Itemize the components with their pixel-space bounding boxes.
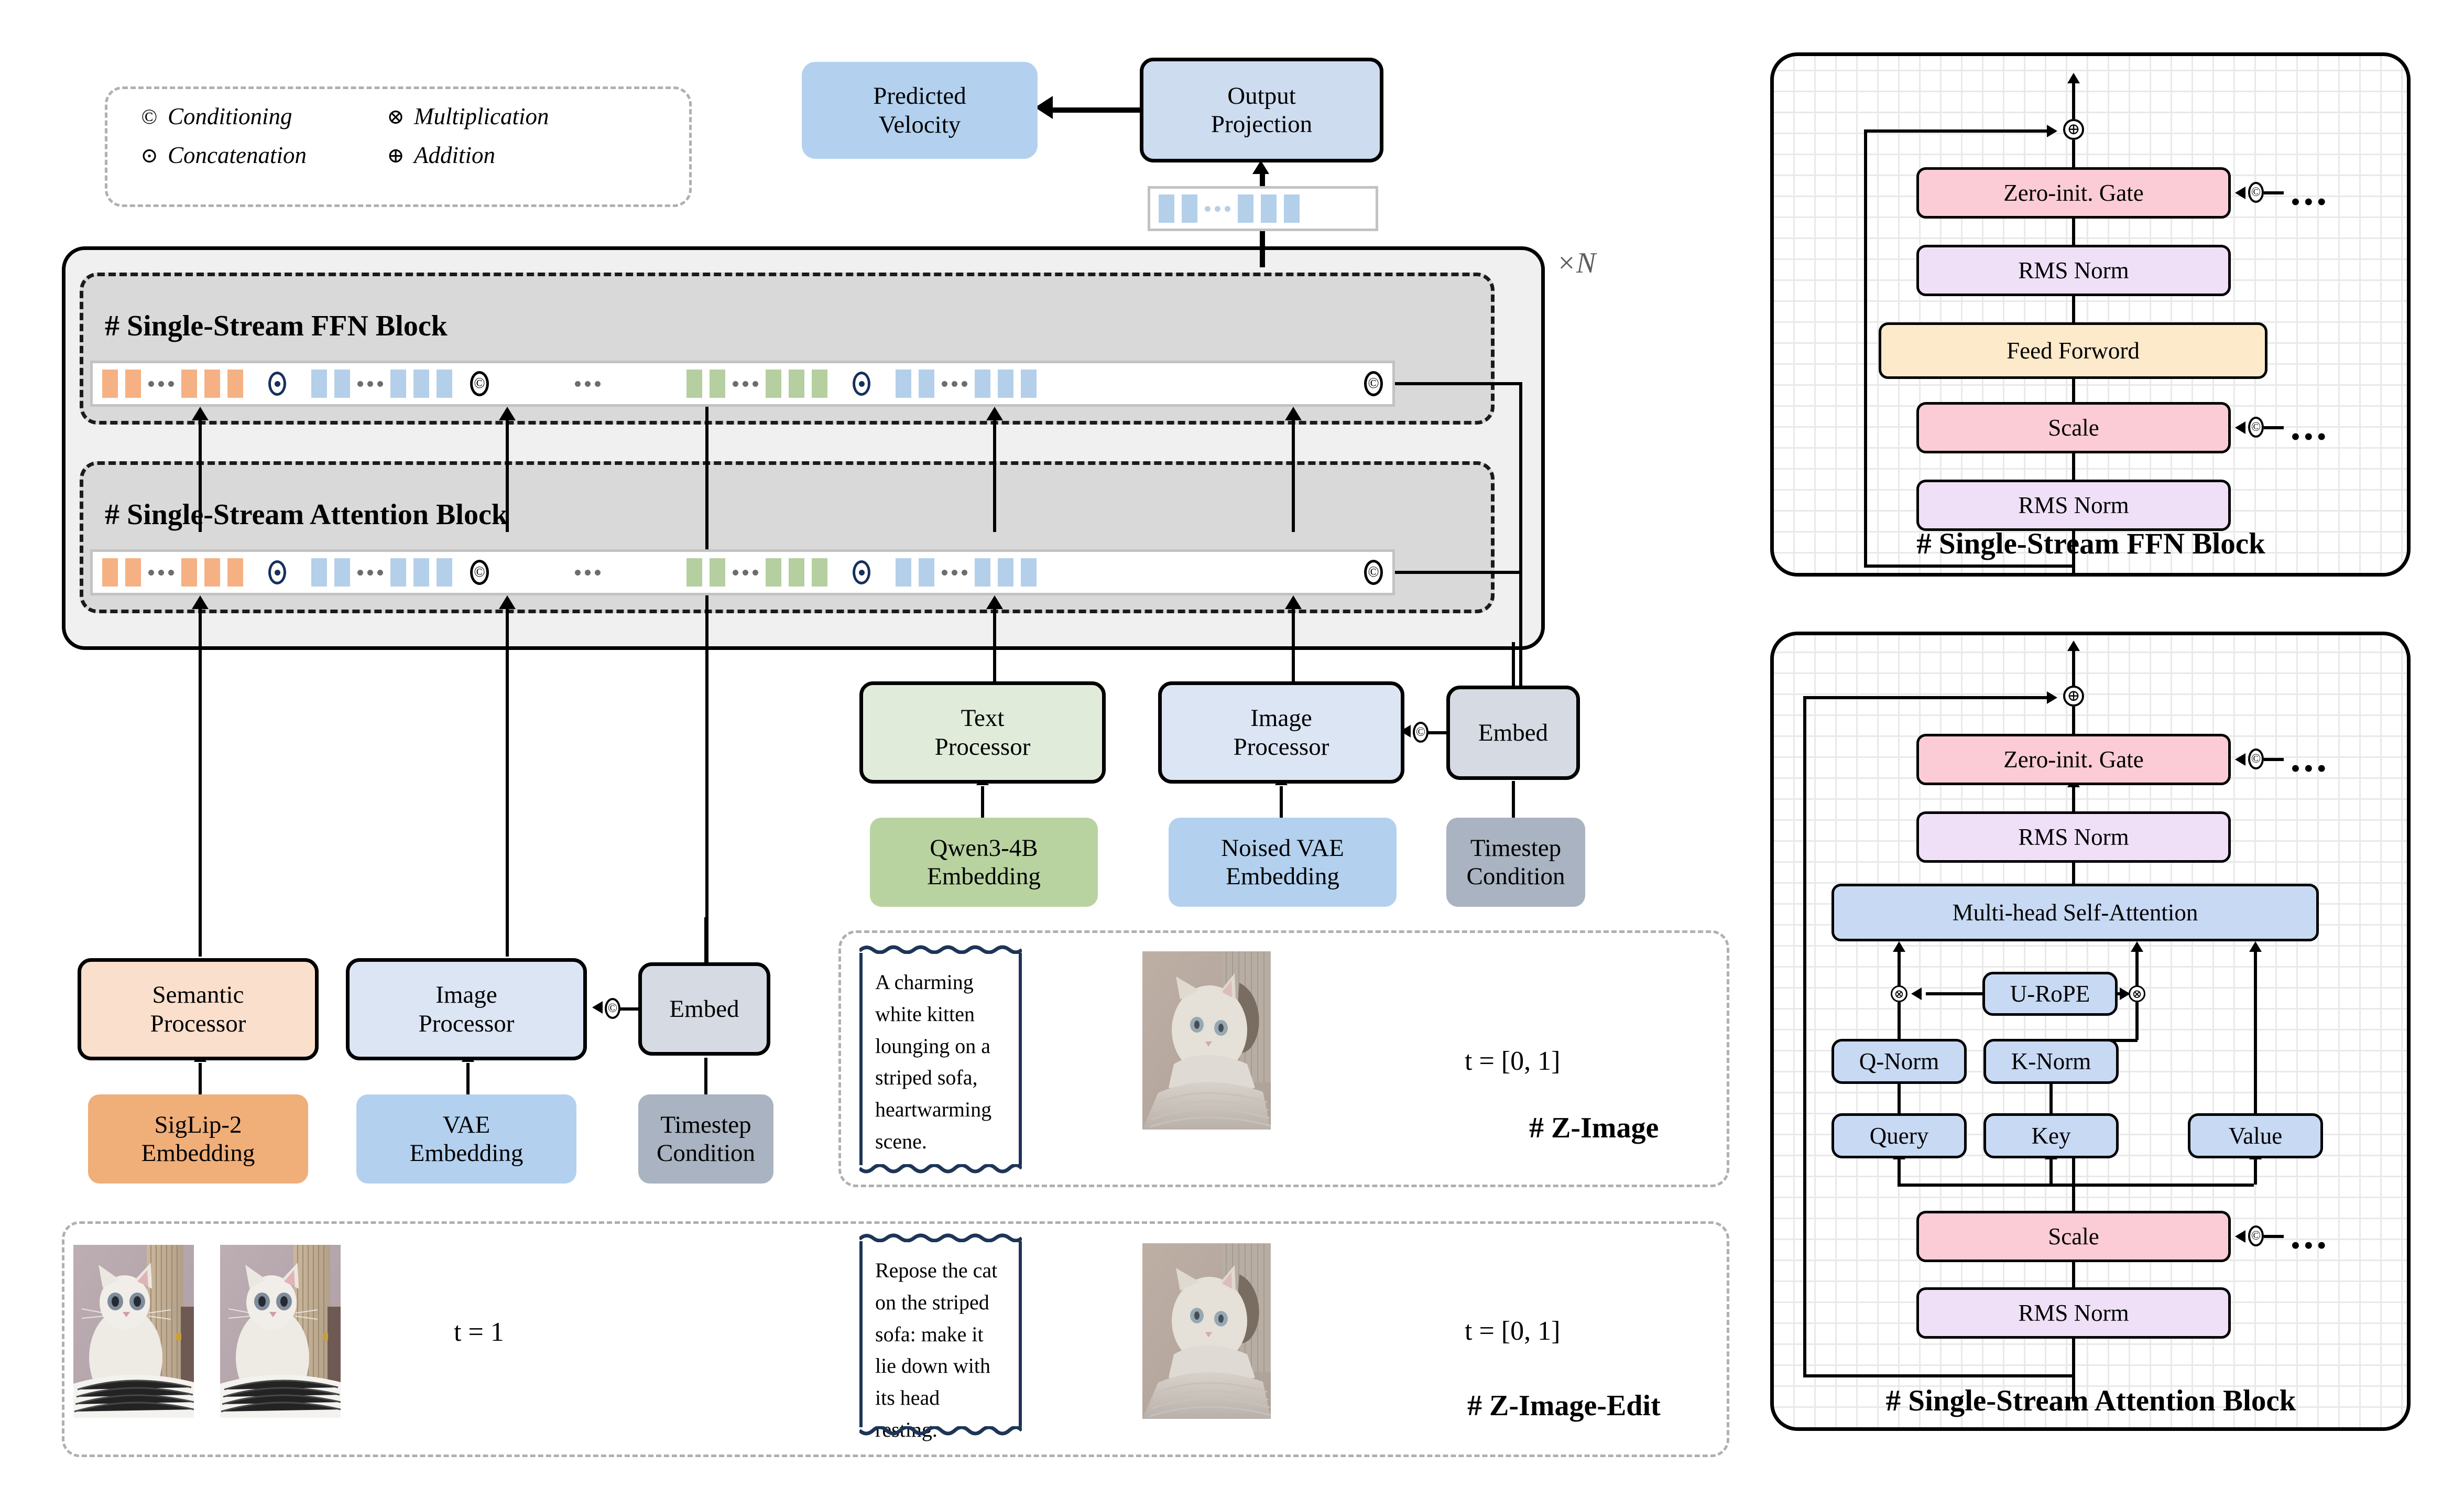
token-text — [686, 558, 702, 587]
ffn-rms-norm-bottom-node: RMS Norm — [1916, 480, 2231, 531]
legend-label-concatenation: Concatenation — [168, 142, 377, 169]
vae-line2: Embedding — [410, 1139, 524, 1167]
token-noised-image — [998, 370, 1013, 398]
arrowhead-ffn-text — [986, 407, 1003, 420]
attn-query-node: Query — [1831, 1113, 1967, 1158]
token — [1182, 194, 1197, 223]
ffn-output-arrowhead — [2067, 73, 2080, 83]
text-processor-line1: Text — [961, 704, 1005, 732]
token-noised-image — [896, 558, 911, 587]
multiplication-symbol: ⊗ — [377, 104, 414, 129]
attn-mhsa-k-arrowhead — [2131, 941, 2143, 952]
token-noised-image — [919, 370, 934, 398]
z-image-prompt-card: A charming white kitten lounging on a st… — [859, 953, 1022, 1165]
output-token-strip — [1148, 186, 1378, 231]
multiplication-symbol: ⊗ — [2129, 985, 2145, 1002]
token-ellipsis — [350, 570, 390, 576]
embed-node-center: Embed — [1446, 686, 1580, 780]
token-semantic — [227, 558, 243, 587]
token-ellipsis — [934, 570, 975, 576]
cond-bus-vertical-left — [705, 382, 708, 991]
embed-node-left: Embed — [638, 962, 770, 1056]
token — [1159, 194, 1174, 223]
token-image — [413, 370, 429, 398]
attn-key-node: Key — [1983, 1113, 2119, 1158]
legend-label-multiplication: Multiplication — [414, 103, 549, 130]
ffn-cond-gate-line — [2264, 191, 2284, 194]
conditioning-symbol: © — [2248, 417, 2264, 438]
ffn-block-title: # Single-Stream FFN Block — [105, 309, 448, 343]
conditioning-symbol: © — [1364, 560, 1383, 585]
arrowhead-attn-semantic — [192, 595, 209, 609]
ffn-cond-scale-line — [2264, 426, 2284, 429]
conditioning-symbol: © — [131, 104, 168, 129]
conditioning-symbol: © — [605, 998, 620, 1019]
attn-cond-scale-line — [2264, 1235, 2284, 1238]
conditioning-symbol: © — [1364, 371, 1383, 396]
attention-block-title: # Single-Stream Attention Block — [105, 498, 508, 531]
attn-node-label: RMS Norm — [2018, 823, 2129, 851]
attn-spine-scale — [2072, 1262, 2075, 1287]
token-image — [437, 370, 452, 398]
text-processor-node: Text Processor — [859, 681, 1106, 784]
z-image-edit-t-output-value: t = [0, 1] — [1465, 1316, 1560, 1347]
ffn-feed-forward-node: Feed Forword — [1879, 322, 2267, 379]
ffn-detail-title: # Single-Stream FFN Block — [1855, 527, 2327, 561]
attn-node-label: Value — [2229, 1122, 2282, 1149]
token-text — [766, 370, 781, 398]
attn-residual-arrowhead — [2047, 691, 2057, 704]
token-ellipsis — [725, 570, 766, 576]
ffn-spine-3 — [2072, 453, 2075, 480]
concatenation-symbol — [268, 560, 286, 584]
semantic-processor-line1: Semantic — [152, 981, 244, 1009]
token-semantic — [102, 370, 118, 398]
token-ellipsis — [141, 570, 181, 576]
attn-cond-gate-ellipsis: ••• — [2291, 763, 2330, 775]
token-text — [686, 370, 702, 398]
conditioning-symbol: © — [1413, 722, 1429, 743]
attn-value-node: Value — [2188, 1113, 2323, 1158]
token-image — [311, 370, 327, 398]
token-semantic — [181, 370, 197, 398]
output-projection-line2: Projection — [1211, 110, 1312, 138]
connector-embed-center-up — [1512, 642, 1515, 687]
qwen-embedding-line2: Embedding — [927, 862, 1041, 891]
image-processor-node-left: Image Processor — [346, 958, 587, 1060]
siglip-embedding-node: SigLip-2 Embedding — [88, 1094, 308, 1184]
semantic-processor-line2: Processor — [150, 1010, 246, 1038]
token-ellipsis — [568, 570, 608, 576]
attn-qkv-fanout-bar — [1898, 1184, 2254, 1187]
connector-outproj-to-velocity — [1052, 107, 1141, 113]
arrowhead-imgproc-left — [592, 1001, 603, 1014]
arrowhead-ffn-image — [499, 407, 516, 420]
wave-bottom-decoration — [859, 1164, 1022, 1176]
z-image-edit-output-photo — [1142, 1243, 1271, 1419]
attn-urope-q-arrowhead — [1911, 987, 1922, 1000]
token — [1284, 194, 1300, 223]
attn-rms-norm-bottom-node: RMS Norm — [1916, 1287, 2231, 1339]
flow-noised-proc-to-attn — [1292, 608, 1295, 681]
attn-node-label: Multi-head Self-Attention — [1953, 899, 2198, 926]
token-noised-image — [975, 558, 990, 587]
connector-timestep-to-embed-center — [1512, 781, 1515, 819]
concatenation-symbol — [268, 372, 286, 396]
arrowhead-attn-text — [986, 595, 1003, 609]
attn-residual-top — [1803, 696, 2048, 699]
noised-vae-embedding-node: Noised VAE Embedding — [1169, 818, 1397, 907]
ffn-residual-top — [1864, 129, 2048, 133]
ffn-cond-gate-ellipsis: ••• — [2291, 197, 2330, 208]
attn-urope-to-q-line — [1926, 992, 1982, 995]
embed-label: Embed — [669, 995, 739, 1023]
attn-k-norm-node: K-Norm — [1983, 1039, 2119, 1084]
ffn-cond-scale-ellipsis: ••• — [2291, 431, 2330, 443]
ffn-cond-gate-arrowhead — [2235, 187, 2245, 199]
attn-node-label: U-RoPE — [2010, 980, 2090, 1007]
attn-mhsa-q-arrowhead — [1893, 941, 1905, 952]
legend: © Conditioning ⊗ Multiplication ⊙ Concat… — [131, 103, 549, 169]
output-projection-node: Output Projection — [1140, 58, 1383, 162]
noised-vae-line2: Embedding — [1226, 862, 1339, 891]
attn-residual-vertical — [1803, 696, 1806, 1377]
wave-top-decoration — [859, 1231, 1022, 1242]
arrowhead-velocity — [1035, 96, 1053, 119]
attn-mhsa-to-rms — [2072, 863, 2075, 886]
token-image — [413, 558, 429, 587]
flow-up-noised — [1292, 419, 1295, 532]
z-image-edit-tag: # Z-Image-Edit — [1467, 1389, 1661, 1423]
ffn-spine-2 — [2072, 379, 2075, 402]
predicted-velocity-line1: Predicted — [873, 82, 966, 110]
token-ellipsis — [934, 381, 975, 387]
attention-token-row: © © — [90, 549, 1395, 595]
token-image — [437, 558, 452, 587]
ffn-detail-panel: Zero-init. Gate RMS Norm Feed Forword Sc… — [1770, 52, 2411, 577]
attn-fan-q — [1898, 1159, 1901, 1185]
connector-vae-to-imgproc-center — [1280, 786, 1283, 819]
token-text — [789, 370, 804, 398]
attn-node-label: Zero-init. Gate — [2003, 746, 2143, 773]
z-image-edit-input-photo-2 — [220, 1245, 341, 1418]
token-text — [812, 558, 827, 587]
connector-embed-to-imgproc-center — [1426, 731, 1448, 734]
token-ellipsis — [725, 381, 766, 387]
semantic-processor-node: Semantic Processor — [78, 958, 319, 1060]
token-ellipsis — [1197, 206, 1238, 212]
cond-bus-vertical — [1519, 382, 1522, 718]
attn-node-label: RMS Norm — [2018, 1299, 2129, 1327]
legend-label-conditioning: Conditioning — [168, 103, 377, 130]
attention-detail-title: # Single-Stream Attention Block — [1792, 1384, 2390, 1418]
flow-text-proc-to-attn — [993, 608, 996, 681]
z-image-output-photo — [1142, 951, 1271, 1130]
z-image-edit-t-input-value: t = 1 — [454, 1317, 504, 1348]
addition-symbol: ⊕ — [377, 143, 414, 168]
z-image-edit-input-photo-1 — [73, 1245, 194, 1418]
token-text — [766, 558, 781, 587]
attn-output-arrowhead — [2067, 641, 2080, 651]
ffn-cond-scale-arrowhead — [2235, 421, 2245, 434]
z-image-tag: # Z-Image — [1529, 1111, 1659, 1145]
cond-feed-attention — [1383, 571, 1522, 574]
attn-urope-node: U-RoPE — [1982, 972, 2118, 1016]
attn-q-norm-node: Q-Norm — [1831, 1039, 1967, 1084]
attn-knorm-to-mul — [2135, 1002, 2139, 1040]
ffn-residual-arrowhead — [2047, 125, 2057, 137]
qwen-embedding-line1: Qwen3-4B — [930, 834, 1038, 862]
conditioning-symbol: © — [470, 560, 489, 585]
predicted-velocity-node: Predicted Velocity — [802, 62, 1038, 159]
image-processor-line2: Processor — [1234, 733, 1329, 761]
attn-cond-scale-arrowhead — [2235, 1230, 2245, 1243]
token-image — [390, 370, 406, 398]
siglip-line1: SigLip-2 — [154, 1111, 242, 1139]
token-image — [334, 558, 350, 587]
concatenation-symbol — [853, 560, 870, 584]
token-text — [789, 558, 804, 587]
attn-mul-k-to-mhsa — [2135, 952, 2139, 986]
token — [1261, 194, 1277, 223]
conditioning-symbol: © — [470, 371, 489, 396]
attn-qnorm-to-mul — [1898, 1002, 1901, 1040]
qwen-embedding-node: Qwen3-4B Embedding — [870, 818, 1098, 907]
token-text — [710, 558, 725, 587]
connector-stack-to-strip — [1260, 231, 1265, 267]
addition-symbol: ⊕ — [2063, 119, 2084, 140]
vae-line1: VAE — [443, 1111, 490, 1139]
z-image-t-value: t = [0, 1] — [1465, 1046, 1560, 1077]
z-image-prompt-text: A charming white kitten lounging on a st… — [875, 970, 991, 1153]
connector-qwen-to-textproc — [981, 786, 984, 819]
token-semantic — [125, 370, 141, 398]
ffn-node-label: Feed Forword — [2007, 337, 2140, 364]
attn-k-to-knorm — [2049, 1084, 2053, 1114]
noised-vae-line1: Noised VAE — [1221, 834, 1344, 862]
text-processor-line2: Processor — [935, 733, 1031, 761]
attn-mhsa-node: Multi-head Self-Attention — [1831, 884, 2319, 941]
image-processor-node-center: Image Processor — [1158, 681, 1404, 784]
concatenation-symbol: ⊙ — [131, 143, 168, 168]
attn-gate-to-add — [2072, 707, 2075, 735]
ffn-rms-norm-top-node: RMS Norm — [1916, 245, 2231, 296]
wave-top-decoration — [859, 942, 1022, 954]
token-noised-image — [1021, 558, 1037, 587]
ffn-node-label: Scale — [2048, 414, 2099, 441]
token-noised-image — [998, 558, 1013, 587]
token-ellipsis — [141, 381, 181, 387]
image-processor-line1: Image — [1250, 704, 1312, 732]
timestep-line2: Condition — [657, 1139, 755, 1167]
ffn-residual-bottom — [1864, 565, 2074, 568]
attn-output-line — [2072, 651, 2075, 687]
multiplication-symbol: ⊗ — [1891, 985, 1907, 1002]
attn-node-label: Key — [2032, 1122, 2071, 1149]
token-semantic — [181, 558, 197, 587]
timestep-condition-node-center: Timestep Condition — [1446, 818, 1585, 907]
token-semantic — [125, 558, 141, 587]
wave-bottom-decoration — [859, 1426, 1022, 1438]
connector-timestep-to-embed-left — [704, 1058, 707, 1095]
attn-mul-q-to-mhsa — [1898, 952, 1901, 986]
embed-label: Embed — [1478, 719, 1548, 747]
ffn-token-row: © © — [90, 361, 1395, 407]
attn-cond-gate-arrowhead — [2235, 753, 2245, 766]
attn-mhsa-v-arrowhead — [2249, 941, 2262, 952]
arrowhead-ffn-noised — [1285, 407, 1302, 420]
attn-fan-v — [2254, 1159, 2257, 1185]
connector-siglip-to-semproc — [199, 1063, 202, 1095]
ffn-residual-vertical — [1864, 129, 1867, 568]
token-ellipsis — [350, 381, 390, 387]
conditioning-symbol: © — [2248, 1225, 2264, 1246]
flow-semantic-proc-to-attn — [199, 608, 202, 957]
predicted-velocity-line2: Velocity — [879, 111, 961, 139]
z-image-edit-prompt-card: Repose the cat on the striped sofa: make… — [859, 1241, 1022, 1427]
arrowhead-attn-noised — [1285, 595, 1302, 609]
vae-embedding-node: VAE Embedding — [356, 1094, 576, 1184]
image-processor-line1: Image — [435, 981, 497, 1009]
siglip-line2: Embedding — [141, 1139, 255, 1167]
output-projection-line1: Output — [1227, 82, 1296, 110]
attn-node-label: Query — [1870, 1122, 1928, 1149]
attn-node-label: Q-Norm — [1859, 1048, 1939, 1075]
token-semantic — [227, 370, 243, 398]
image-processor-line2: Processor — [419, 1010, 515, 1038]
legend-label-addition: Addition — [414, 142, 549, 169]
token-text — [812, 370, 827, 398]
flow-image-proc-to-attn — [506, 608, 509, 957]
ffn-node-label: RMS Norm — [2018, 257, 2129, 284]
token-semantic — [204, 558, 220, 587]
addition-symbol: ⊕ — [2063, 686, 2084, 707]
z-image-edit-prompt-text: Repose the cat on the striped sofa: make… — [875, 1258, 997, 1441]
attn-q-to-qnorm — [1898, 1084, 1901, 1114]
ffn-scale-node: Scale — [1916, 402, 2231, 453]
token-noised-image — [975, 370, 990, 398]
timestep-line1: Timestep — [660, 1111, 751, 1139]
timestep-line1: Timestep — [1470, 834, 1561, 862]
attn-fan-k — [2049, 1159, 2053, 1185]
token-image — [311, 558, 327, 587]
ffn-node-label: Zero-init. Gate — [2003, 179, 2143, 207]
cond-feed-ffn — [1383, 382, 1522, 385]
token-noised-image — [919, 558, 934, 587]
connector-embed-left-up — [704, 917, 707, 963]
attn-node-label: K-Norm — [2011, 1048, 2091, 1075]
attn-cond-gate-line — [2264, 758, 2284, 761]
ffn-zero-init-gate-node: Zero-init. Gate — [1916, 167, 2231, 219]
ffn-node-label: RMS Norm — [2018, 492, 2129, 519]
flow-up-text — [993, 419, 996, 532]
token-image — [390, 558, 406, 587]
connector-vae-to-imgproc-left — [466, 1063, 470, 1095]
timestep-line2: Condition — [1466, 862, 1565, 891]
timestep-condition-node-left: Timestep Condition — [638, 1094, 773, 1184]
token-ellipsis — [568, 381, 608, 387]
concatenation-symbol — [853, 372, 870, 396]
ffn-output-line — [2072, 83, 2075, 119]
attn-cond-scale-ellipsis: ••• — [2291, 1240, 2330, 1252]
ffn-spine-to-add — [2072, 140, 2075, 167]
token-image — [334, 370, 350, 398]
arrowhead-attn-image — [499, 595, 516, 609]
ffn-spine-1 — [2072, 296, 2075, 322]
token-semantic — [102, 558, 118, 587]
attn-rms-norm-top-node: RMS Norm — [1916, 811, 2231, 863]
repeat-count-label: ×N — [1556, 246, 1596, 280]
attn-zero-init-gate-node: Zero-init. Gate — [1916, 734, 2231, 785]
token-noised-image — [1021, 370, 1037, 398]
conditioning-symbol: © — [2248, 748, 2264, 769]
token — [1238, 194, 1253, 223]
token-semantic — [204, 370, 220, 398]
arrowhead-ffn-semantic — [192, 407, 209, 420]
attn-residual-bottom — [1803, 1374, 2074, 1377]
attn-node-label: Scale — [2048, 1223, 2099, 1250]
attn-scale-node: Scale — [1916, 1211, 2231, 1262]
token-text — [710, 370, 725, 398]
ffn-spine-0 — [2072, 219, 2075, 245]
attention-detail-panel: Zero-init. Gate RMS Norm Multi-head Self… — [1770, 632, 2411, 1431]
attn-v-to-mhsa — [2254, 952, 2257, 1113]
conditioning-symbol: © — [2248, 182, 2264, 203]
connector-embed-to-imgproc-left — [618, 1007, 640, 1011]
token-noised-image — [896, 370, 911, 398]
